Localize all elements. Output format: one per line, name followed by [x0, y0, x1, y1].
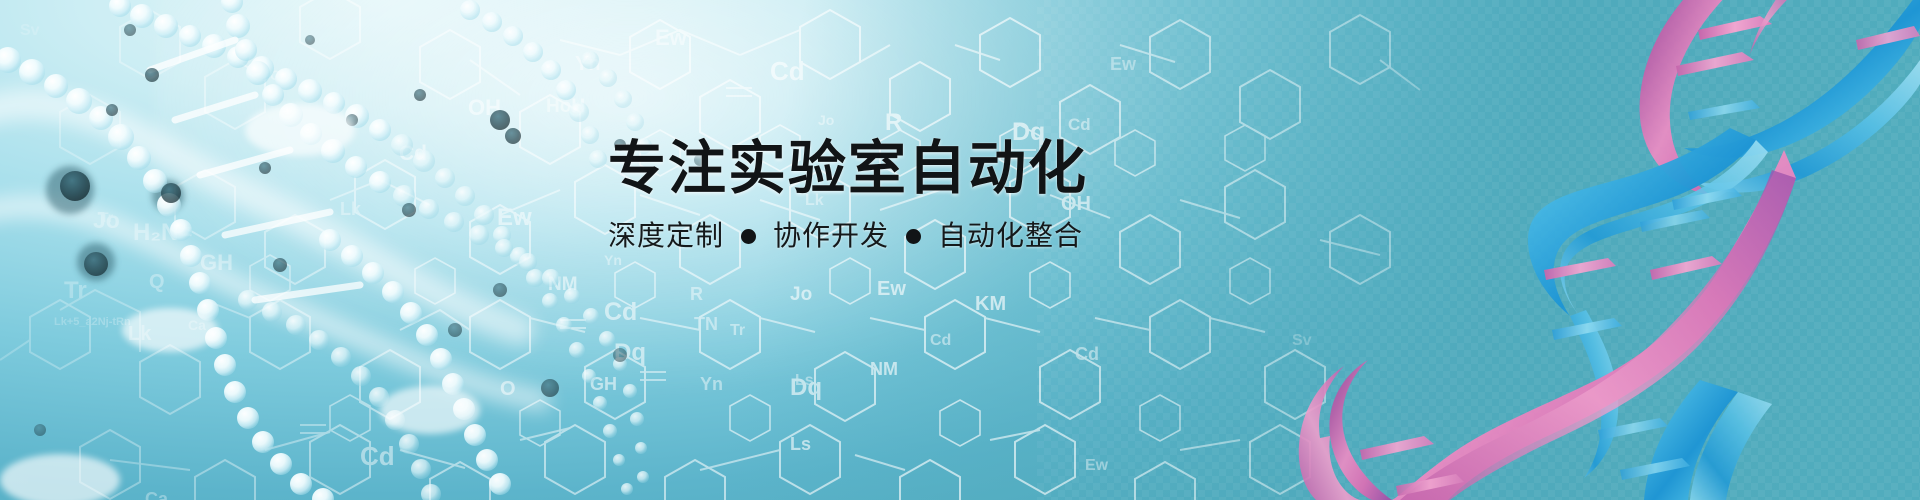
subtitle-item-3: 自动化整合 — [938, 219, 1083, 253]
subtitle-item-2: 协作开发 — [773, 219, 889, 253]
helix-group — [1299, 0, 1920, 500]
banner-copy-block: 专注实验室自动化 深度定制 协作开发 自动化整合 — [608, 138, 1168, 253]
subtitle-item-1: 深度定制 — [608, 219, 724, 253]
bullet-dot-icon — [906, 229, 921, 244]
page-title: 专注实验室自动化 — [608, 138, 1168, 199]
banner-subtitle: 深度定制 协作开发 自动化整合 — [608, 219, 1168, 253]
lab-automation-banner: Cd Yn R Dq Ew HoH Ew Ew Cd Jo Tr H₂N= GH… — [0, 0, 1920, 500]
bullet-dot-icon — [741, 229, 756, 244]
